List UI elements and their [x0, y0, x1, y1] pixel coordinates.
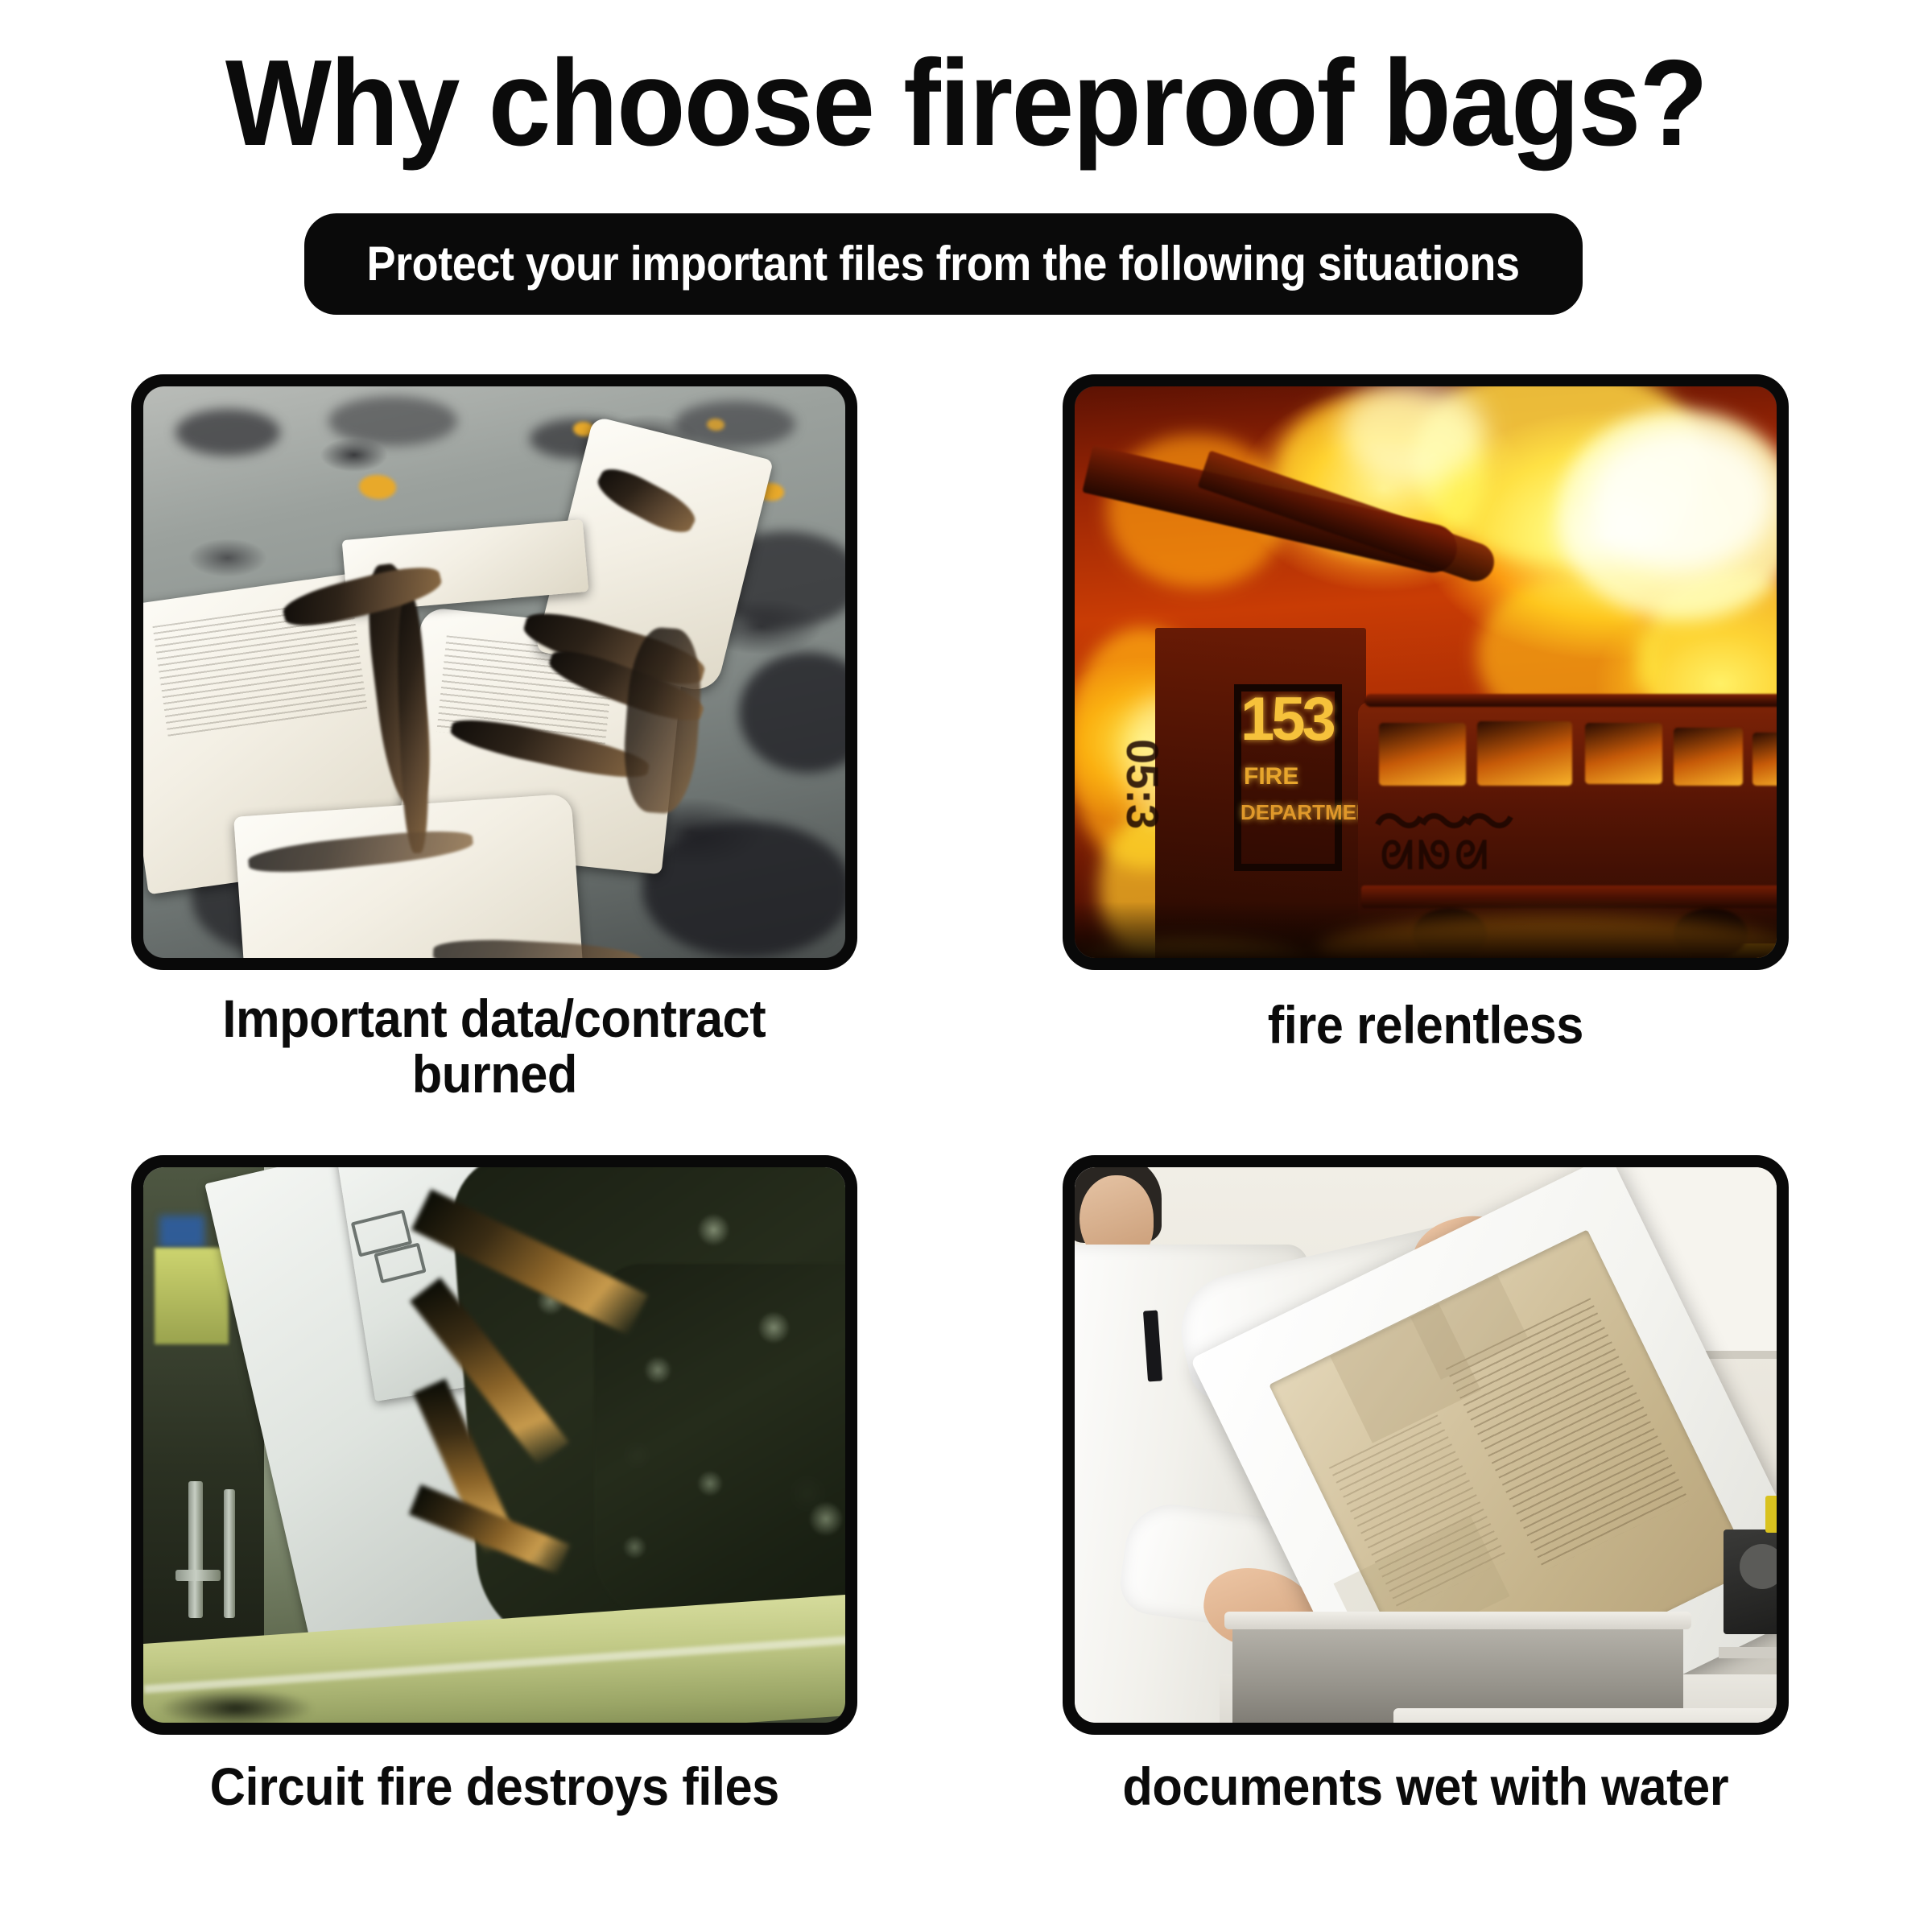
situation-grid: Important data/contract burned [0, 0, 1932, 1932]
panel-caption: documents wet with water [1063, 1759, 1789, 1814]
panel-caption: fire relentless [1063, 997, 1789, 1053]
photo-circuit-fire [143, 1167, 845, 1723]
photo-frame [131, 1155, 857, 1735]
caption-text: Circuit fire destroys files [209, 1759, 778, 1814]
caption-line-1: Important data/contract [223, 991, 766, 1046]
panel-circuit-fire: Circuit fire destroys files [131, 1155, 857, 1814]
caption-text: fire relentless [1268, 997, 1583, 1053]
photo-frame [131, 374, 857, 970]
panel-caption: Important data/contract burned [108, 991, 881, 1101]
photo-water-damage [1075, 1167, 1777, 1723]
photo-frame [1063, 1155, 1789, 1735]
fire-sign-word-1: FIRE [1244, 765, 1298, 789]
infographic-page: Why choose fireproof bags? Protect your … [0, 0, 1932, 1932]
photo-burned-documents [143, 386, 845, 958]
photo-building-fire: 153 FIRE DEPARTMENT 05:3 〜〜〜 [1075, 386, 1777, 958]
caption-line-2: burned [411, 1046, 576, 1102]
panel-caption: Circuit fire destroys files [131, 1759, 857, 1814]
photo-frame: 153 FIRE DEPARTMENT 05:3 〜〜〜 [1063, 374, 1789, 970]
panel-water-damage: documents wet with water [1063, 1155, 1789, 1814]
fire-sign-time: 05:3 [1120, 739, 1165, 829]
caption-text: documents wet with water [1123, 1759, 1729, 1814]
panel-building-fire: 153 FIRE DEPARTMENT 05:3 〜〜〜 [1063, 374, 1789, 1053]
panel-burned-documents: Important data/contract burned [131, 374, 857, 1101]
fire-sign-number: 153 [1241, 689, 1333, 750]
